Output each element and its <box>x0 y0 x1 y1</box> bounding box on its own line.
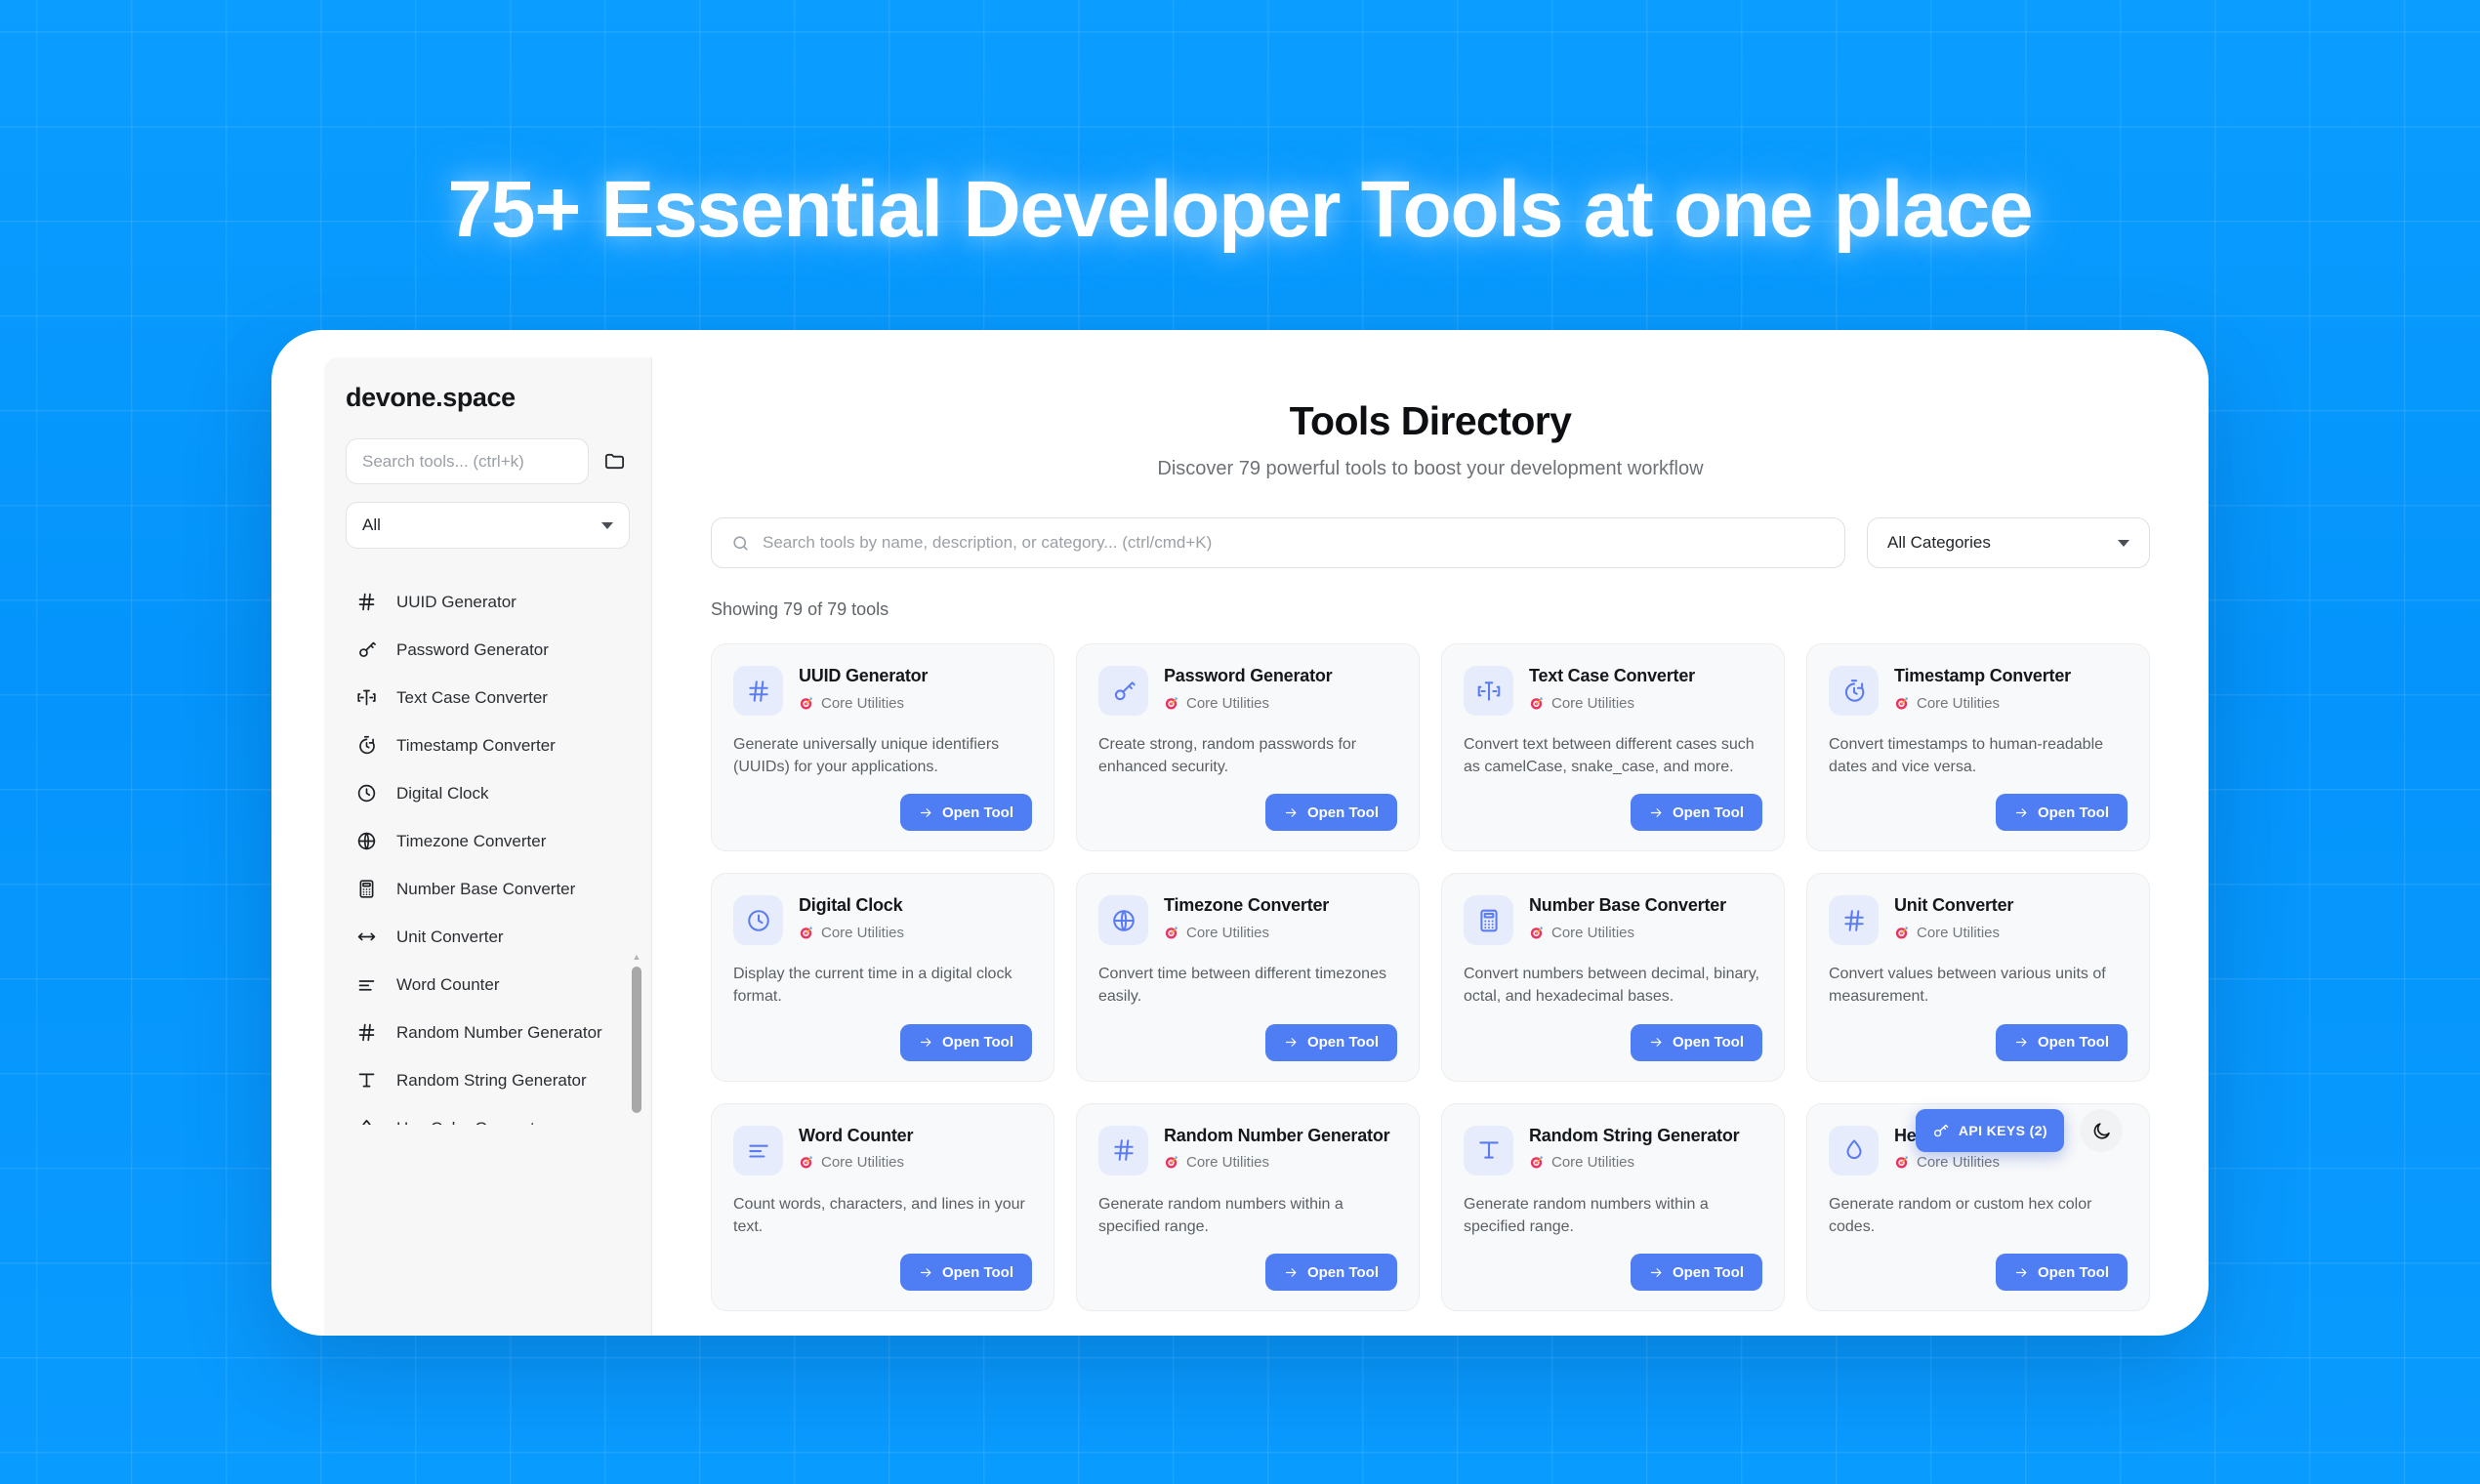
tool-card-header: UUID GeneratorCore Utilities <box>733 666 1032 716</box>
brand-title: devone.space <box>324 383 651 413</box>
tool-card-category: Core Utilities <box>1894 695 2128 712</box>
sidebar-category-value: All <box>362 515 381 535</box>
filter-row: Search tools by name, description, or ca… <box>711 517 2150 568</box>
hash-icon <box>1829 895 1879 945</box>
tool-card[interactable]: Text Case ConverterCore UtilitiesConvert… <box>1441 643 1785 851</box>
tool-card-header: Random String GeneratorCore Utilities <box>1464 1126 1762 1175</box>
open-tool-label: Open Tool <box>1673 804 1744 821</box>
main-content: Tools Directory Discover 79 powerful too… <box>652 357 2209 1336</box>
sidebar-scrollbar[interactable]: ▲ ▼ <box>630 953 643 1336</box>
key-icon <box>353 639 379 660</box>
sidebar-item-label: Password Generator <box>396 639 549 661</box>
arrow-right-icon <box>2014 1035 2029 1050</box>
tool-card[interactable]: Random Number GeneratorCore UtilitiesGen… <box>1076 1103 1420 1311</box>
open-tool-label: Open Tool <box>1307 1034 1379 1051</box>
align-left-icon <box>353 974 379 995</box>
target-icon <box>1529 926 1544 940</box>
tool-card-description: Generate random numbers within a specifi… <box>1464 1194 1762 1238</box>
arrow-right-icon <box>1649 1035 1664 1050</box>
tool-card-category-label: Core Utilities <box>1186 695 1269 712</box>
arrow-right-icon <box>2014 805 2029 820</box>
sidebar-item[interactable]: Word Counter <box>353 961 622 1009</box>
globe-icon <box>353 831 379 851</box>
sidebar-category-select[interactable]: All <box>346 502 630 549</box>
sidebar-search-placeholder: Search tools... (ctrl+k) <box>362 452 524 472</box>
tool-card-category-label: Core Utilities <box>1551 1154 1634 1171</box>
hash-icon <box>353 592 379 612</box>
type-icon <box>353 1070 379 1091</box>
page-title: Tools Directory <box>711 398 2150 444</box>
sidebar-item-label: Number Base Converter <box>396 879 575 900</box>
target-icon <box>1894 696 1909 711</box>
tool-card-description: Convert timestamps to human-readable dat… <box>1829 734 2128 778</box>
open-tool-label: Open Tool <box>1307 1264 1379 1281</box>
text-case-icon <box>353 687 379 708</box>
sidebar-item-label: Word Counter <box>396 974 500 996</box>
arrow-right-icon <box>919 805 933 820</box>
clock-icon <box>733 895 783 945</box>
tool-card-category-label: Core Utilities <box>1551 925 1634 941</box>
tool-card-header: Timestamp ConverterCore Utilities <box>1829 666 2128 716</box>
tool-card-description: Create strong, random passwords for enha… <box>1098 734 1397 778</box>
align-left-icon <box>733 1126 783 1175</box>
sidebar-item[interactable]: Hex Color Generator <box>353 1104 622 1125</box>
search-icon <box>731 534 750 553</box>
hero-headline: 75+ Essential Developer Tools at one pla… <box>0 164 2480 256</box>
droplet-icon <box>353 1118 379 1125</box>
tool-card-description: Convert time between different timezones… <box>1098 964 1397 1008</box>
type-icon <box>1464 1126 1513 1175</box>
target-icon <box>1529 1155 1544 1170</box>
tool-card-title: Number Base Converter <box>1529 895 1762 917</box>
category-filter-value: All Categories <box>1887 533 1991 553</box>
open-tool-button[interactable]: Open Tool <box>1996 1024 2128 1061</box>
timer-reset-icon <box>1829 666 1879 716</box>
sidebar-item[interactable]: Digital Clock <box>353 769 622 817</box>
tool-card-title: Password Generator <box>1164 666 1397 687</box>
tool-card[interactable]: Unit ConverterCore UtilitiesConvert valu… <box>1806 873 2150 1081</box>
tool-card-category-label: Core Utilities <box>1551 695 1634 712</box>
tool-card-title: Random String Generator <box>1529 1126 1762 1147</box>
open-tool-button[interactable]: Open Tool <box>1631 1254 1762 1291</box>
tool-card-footer: Open Tool <box>733 1238 1032 1291</box>
sidebar-item-label: Unit Converter <box>396 927 504 948</box>
tool-card-footer: Open Tool <box>1829 1009 2128 1061</box>
open-tool-button[interactable]: Open Tool <box>900 794 1032 831</box>
results-count: Showing 79 of 79 tools <box>711 599 2150 620</box>
target-icon <box>1529 696 1544 711</box>
globe-icon <box>1098 895 1148 945</box>
open-tool-label: Open Tool <box>1673 1034 1744 1051</box>
text-case-icon <box>1464 666 1513 716</box>
tool-card-header: Number Base ConverterCore Utilities <box>1464 895 1762 945</box>
tool-card-category: Core Utilities <box>1164 695 1397 712</box>
tool-card-category: Core Utilities <box>799 695 1032 712</box>
tool-card-category-label: Core Utilities <box>1186 1154 1269 1171</box>
tool-card-title: Text Case Converter <box>1529 666 1762 687</box>
tool-card-footer: Open Tool <box>1464 1238 1762 1291</box>
tool-card-title: Unit Converter <box>1894 895 2128 917</box>
tool-card-header: Digital ClockCore Utilities <box>733 895 1032 945</box>
api-keys-button[interactable]: API KEYS (2) <box>1916 1109 2064 1152</box>
open-tool-button[interactable]: Open Tool <box>900 1254 1032 1291</box>
arrow-right-icon <box>1284 1265 1299 1280</box>
sidebar-item-label: Hex Color Generator <box>396 1118 550 1125</box>
tool-card-category-label: Core Utilities <box>821 695 904 712</box>
sidebar-item-label: Random Number Generator <box>396 1022 602 1044</box>
tool-card-category: Core Utilities <box>1894 1154 2128 1171</box>
search-input[interactable]: Search tools by name, description, or ca… <box>711 517 1845 568</box>
sidebar-item[interactable]: UUID Generator <box>353 578 622 626</box>
arrows-horizontal-icon <box>353 927 379 947</box>
sidebar-item[interactable]: Password Generator <box>353 626 622 674</box>
page-subtitle: Discover 79 powerful tools to boost your… <box>711 458 2150 480</box>
tool-card-footer: Open Tool <box>1098 778 1397 831</box>
moon-icon <box>2091 1121 2112 1141</box>
tool-card-description: Display the current time in a digital cl… <box>733 964 1032 1008</box>
scroll-up-arrow-icon[interactable]: ▲ <box>630 953 643 962</box>
tool-card-description: Convert values between various units of … <box>1829 964 2128 1008</box>
target-icon <box>1164 926 1178 940</box>
tool-card-footer: Open Tool <box>1464 778 1762 831</box>
open-tool-button[interactable]: Open Tool <box>1631 1024 1762 1061</box>
tool-card[interactable]: Timestamp ConverterCore UtilitiesConvert… <box>1806 643 2150 851</box>
sidebar-search-input[interactable]: Search tools... (ctrl+k) <box>346 438 589 484</box>
tool-card-footer: Open Tool <box>1464 1009 1762 1061</box>
tool-card-description: Generate random numbers within a specifi… <box>1098 1194 1397 1238</box>
tool-card-category-label: Core Utilities <box>1186 925 1269 941</box>
tool-card-title: UUID Generator <box>799 666 1032 687</box>
sidebar-tool-list: UUID GeneratorPassword GeneratorText Cas… <box>324 578 651 1125</box>
hash-icon <box>1098 1126 1148 1175</box>
tool-card-category: Core Utilities <box>1529 1154 1762 1171</box>
tool-card-category: Core Utilities <box>799 1154 1032 1171</box>
tool-card-category-label: Core Utilities <box>1917 695 2000 712</box>
tool-card-footer: Open Tool <box>733 1009 1032 1061</box>
tool-card-title: Digital Clock <box>799 895 1032 917</box>
tools-grid: UUID GeneratorCore UtilitiesGenerate uni… <box>711 643 2150 1311</box>
sidebar-item[interactable]: Random String Generator <box>353 1056 622 1104</box>
hash-icon <box>733 666 783 716</box>
tool-card[interactable]: Timezone ConverterCore UtilitiesConvert … <box>1076 873 1420 1081</box>
open-tool-label: Open Tool <box>1673 1264 1744 1281</box>
open-tool-button[interactable]: Open Tool <box>900 1024 1032 1061</box>
sidebar-item-label: Text Case Converter <box>396 687 548 709</box>
tool-card-category: Core Utilities <box>1164 1154 1397 1171</box>
open-tool-button[interactable]: Open Tool <box>1631 794 1762 831</box>
sidebar-item[interactable]: Unit Converter <box>353 913 622 961</box>
tool-card-description: Convert numbers between decimal, binary,… <box>1464 964 1762 1008</box>
tool-card-footer: Open Tool <box>1829 1238 2128 1291</box>
tool-card[interactable]: Digital ClockCore UtilitiesDisplay the c… <box>711 873 1054 1081</box>
tool-card[interactable]: Password GeneratorCore UtilitiesCreate s… <box>1076 643 1420 851</box>
sidebar-item[interactable]: Timestamp Converter <box>353 721 622 769</box>
timer-reset-icon <box>353 735 379 756</box>
sidebar-item-label: UUID Generator <box>396 592 517 613</box>
hash-icon <box>353 1022 379 1043</box>
app-window: devone.space Search tools... (ctrl+k) Al… <box>271 330 2209 1336</box>
tool-card[interactable]: Random String GeneratorCore UtilitiesGen… <box>1441 1103 1785 1311</box>
open-tool-label: Open Tool <box>942 1034 1013 1051</box>
sidebar-item[interactable]: Text Case Converter <box>353 674 622 721</box>
tool-card-category: Core Utilities <box>799 925 1032 941</box>
scrollbar-thumb[interactable] <box>632 967 641 1113</box>
tool-card[interactable]: UUID GeneratorCore UtilitiesGenerate uni… <box>711 643 1054 851</box>
open-tool-button[interactable]: Open Tool <box>1996 1254 2128 1291</box>
target-icon <box>799 696 813 711</box>
tool-card-header: Text Case ConverterCore Utilities <box>1464 666 1762 716</box>
tool-card-category: Core Utilities <box>1164 925 1397 941</box>
arrow-right-icon <box>2014 1265 2029 1280</box>
tool-card-category-label: Core Utilities <box>821 925 904 941</box>
arrow-right-icon <box>919 1265 933 1280</box>
sidebar-item-label: Timestamp Converter <box>396 735 556 757</box>
arrow-right-icon <box>1284 805 1299 820</box>
folder-icon[interactable] <box>599 446 630 477</box>
sidebar: devone.space Search tools... (ctrl+k) Al… <box>324 357 652 1336</box>
arrow-right-icon <box>1649 1265 1664 1280</box>
clock-icon <box>353 783 379 804</box>
tool-card[interactable]: Word CounterCore UtilitiesCount words, c… <box>711 1103 1054 1311</box>
tool-card-footer: Open Tool <box>1098 1009 1397 1061</box>
target-icon <box>1164 1155 1178 1170</box>
tool-card-header: Password GeneratorCore Utilities <box>1098 666 1397 716</box>
tool-card-footer: Open Tool <box>1098 1238 1397 1291</box>
scrollbar-track[interactable] <box>632 967 641 1336</box>
tool-card-header: Timezone ConverterCore Utilities <box>1098 895 1397 945</box>
target-icon <box>1894 926 1909 940</box>
chevron-down-icon <box>2118 540 2129 547</box>
tool-card-footer: Open Tool <box>1829 778 2128 831</box>
sidebar-item[interactable]: Timezone Converter <box>353 817 622 865</box>
target-icon <box>799 926 813 940</box>
open-tool-button[interactable]: Open Tool <box>1265 1254 1397 1291</box>
arrow-right-icon <box>1649 805 1664 820</box>
arrow-right-icon <box>1284 1035 1299 1050</box>
open-tool-label: Open Tool <box>942 1264 1013 1281</box>
chevron-down-icon <box>601 522 613 529</box>
tool-card-description: Count words, characters, and lines in yo… <box>733 1194 1032 1238</box>
tool-card-title: Timestamp Converter <box>1894 666 2128 687</box>
open-tool-label: Open Tool <box>942 804 1013 821</box>
tool-card-category: Core Utilities <box>1894 925 2128 941</box>
tool-card-category-label: Core Utilities <box>821 1154 904 1171</box>
tool-card-category: Core Utilities <box>1529 925 1762 941</box>
tool-card-category: Core Utilities <box>1529 695 1762 712</box>
open-tool-label: Open Tool <box>2038 1264 2109 1281</box>
open-tool-label: Open Tool <box>2038 1034 2109 1051</box>
open-tool-label: Open Tool <box>2038 804 2109 821</box>
target-icon <box>1164 696 1178 711</box>
sidebar-item[interactable]: Random Number Generator <box>353 1009 622 1056</box>
calculator-icon <box>353 879 379 899</box>
sidebar-item-label: Digital Clock <box>396 783 488 804</box>
tool-card-category-label: Core Utilities <box>1917 1154 2000 1171</box>
tool-card-description: Generate universally unique identifiers … <box>733 734 1032 778</box>
tool-card-title: Timezone Converter <box>1164 895 1397 917</box>
tool-card-description: Convert text between different cases suc… <box>1464 734 1762 778</box>
open-tool-button[interactable]: Open Tool <box>1996 794 2128 831</box>
tool-card[interactable]: Number Base ConverterCore UtilitiesConve… <box>1441 873 1785 1081</box>
tool-card-title: Word Counter <box>799 1126 1032 1147</box>
calculator-icon <box>1464 895 1513 945</box>
tool-card-header: Unit ConverterCore Utilities <box>1829 895 2128 945</box>
target-icon <box>799 1155 813 1170</box>
open-tool-button[interactable]: Open Tool <box>1265 1024 1397 1061</box>
open-tool-label: Open Tool <box>1307 804 1379 821</box>
category-filter-select[interactable]: All Categories <box>1867 517 2150 568</box>
tool-card-category-label: Core Utilities <box>1917 925 2000 941</box>
tool-card-description: Generate random or custom hex color code… <box>1829 1194 2128 1238</box>
sidebar-item[interactable]: Number Base Converter <box>353 865 622 913</box>
tool-card-header: Random Number GeneratorCore Utilities <box>1098 1126 1397 1175</box>
key-icon <box>1932 1123 1949 1139</box>
api-keys-label: API KEYS (2) <box>1959 1123 2047 1138</box>
tool-card-header: Word CounterCore Utilities <box>733 1126 1032 1175</box>
tool-card-title: Random Number Generator <box>1164 1126 1397 1147</box>
sidebar-item-label: Random String Generator <box>396 1070 587 1092</box>
theme-toggle-button[interactable] <box>2080 1109 2123 1152</box>
sidebar-search-row: Search tools... (ctrl+k) <box>324 438 651 484</box>
droplet-icon <box>1829 1126 1879 1175</box>
open-tool-button[interactable]: Open Tool <box>1265 794 1397 831</box>
search-placeholder: Search tools by name, description, or ca… <box>763 533 1212 553</box>
target-icon <box>1894 1155 1909 1170</box>
tool-card-footer: Open Tool <box>733 778 1032 831</box>
sidebar-item-label: Timezone Converter <box>396 831 546 852</box>
arrow-right-icon <box>919 1035 933 1050</box>
key-icon <box>1098 666 1148 716</box>
